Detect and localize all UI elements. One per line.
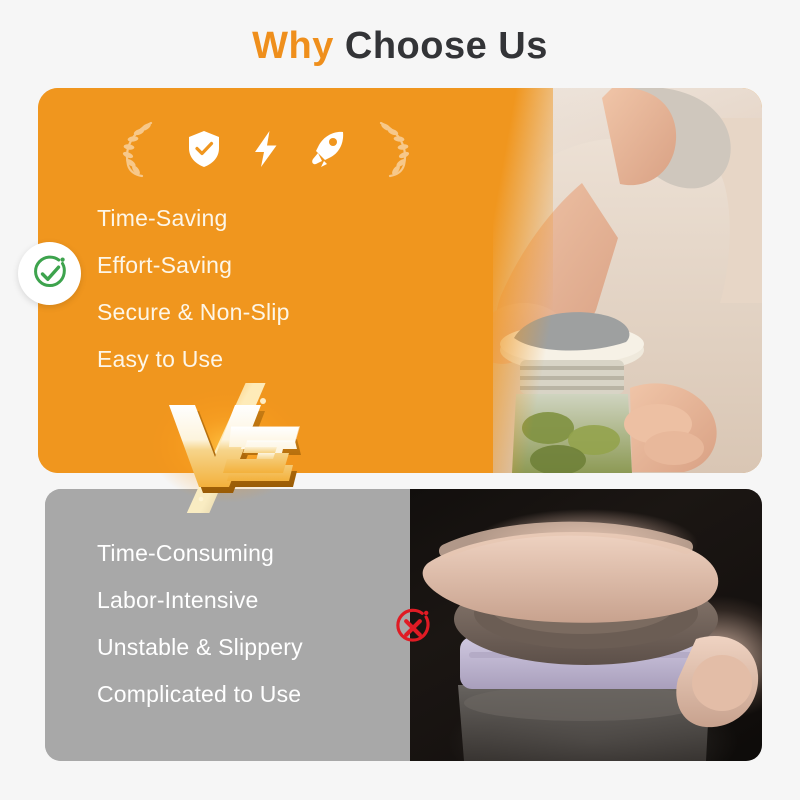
laurel-branch-left-icon — [118, 120, 160, 178]
x-circle-badge — [390, 605, 436, 651]
list-item: Time-Saving — [97, 195, 290, 242]
con-feature-label: Labor-Intensive — [97, 587, 259, 614]
list-item: Time-Consuming — [97, 530, 303, 577]
list-item: Easy to Use — [97, 336, 290, 383]
list-item: Effort-Saving — [97, 242, 290, 289]
hands-struggling-with-jar-lid-photo — [410, 489, 762, 761]
list-item: Complicated to Use — [97, 671, 303, 718]
rocket-icon — [310, 129, 346, 169]
pro-feature-label: Effort-Saving — [97, 252, 232, 279]
check-circle-icon — [29, 253, 71, 295]
x-circle-icon — [391, 606, 435, 650]
lightning-bolt-icon — [248, 129, 284, 169]
page-title: Why Choose Us — [0, 24, 800, 70]
page-title-rest: Choose Us — [334, 25, 548, 67]
pro-icon-strip — [38, 114, 493, 184]
con-feature-label: Unstable & Slippery — [97, 634, 303, 661]
con-feature-label: Complicated to Use — [97, 681, 301, 708]
pro-feature-label: Secure & Non-Slip — [97, 299, 290, 326]
shield-check-icon — [186, 129, 222, 169]
pro-photo-blend — [493, 88, 553, 473]
con-photo-illustration — [410, 489, 762, 761]
list-item: Unstable & Slippery — [97, 624, 303, 671]
con-feature-label: Time-Consuming — [97, 540, 274, 567]
list-item: Labor-Intensive — [97, 577, 303, 624]
con-feature-list: Time-Consuming Labor-Intensive Unstable … — [97, 530, 303, 718]
laurel-branch-right-icon — [372, 120, 414, 178]
pro-feature-label: Time-Saving — [97, 205, 227, 232]
list-item: Secure & Non-Slip — [97, 289, 290, 336]
check-circle-badge — [18, 242, 81, 305]
page-title-accent: Why — [252, 25, 334, 67]
pro-feature-label: Easy to Use — [97, 346, 223, 373]
pro-feature-list: Time-Saving Effort-Saving Secure & Non-S… — [97, 195, 290, 383]
